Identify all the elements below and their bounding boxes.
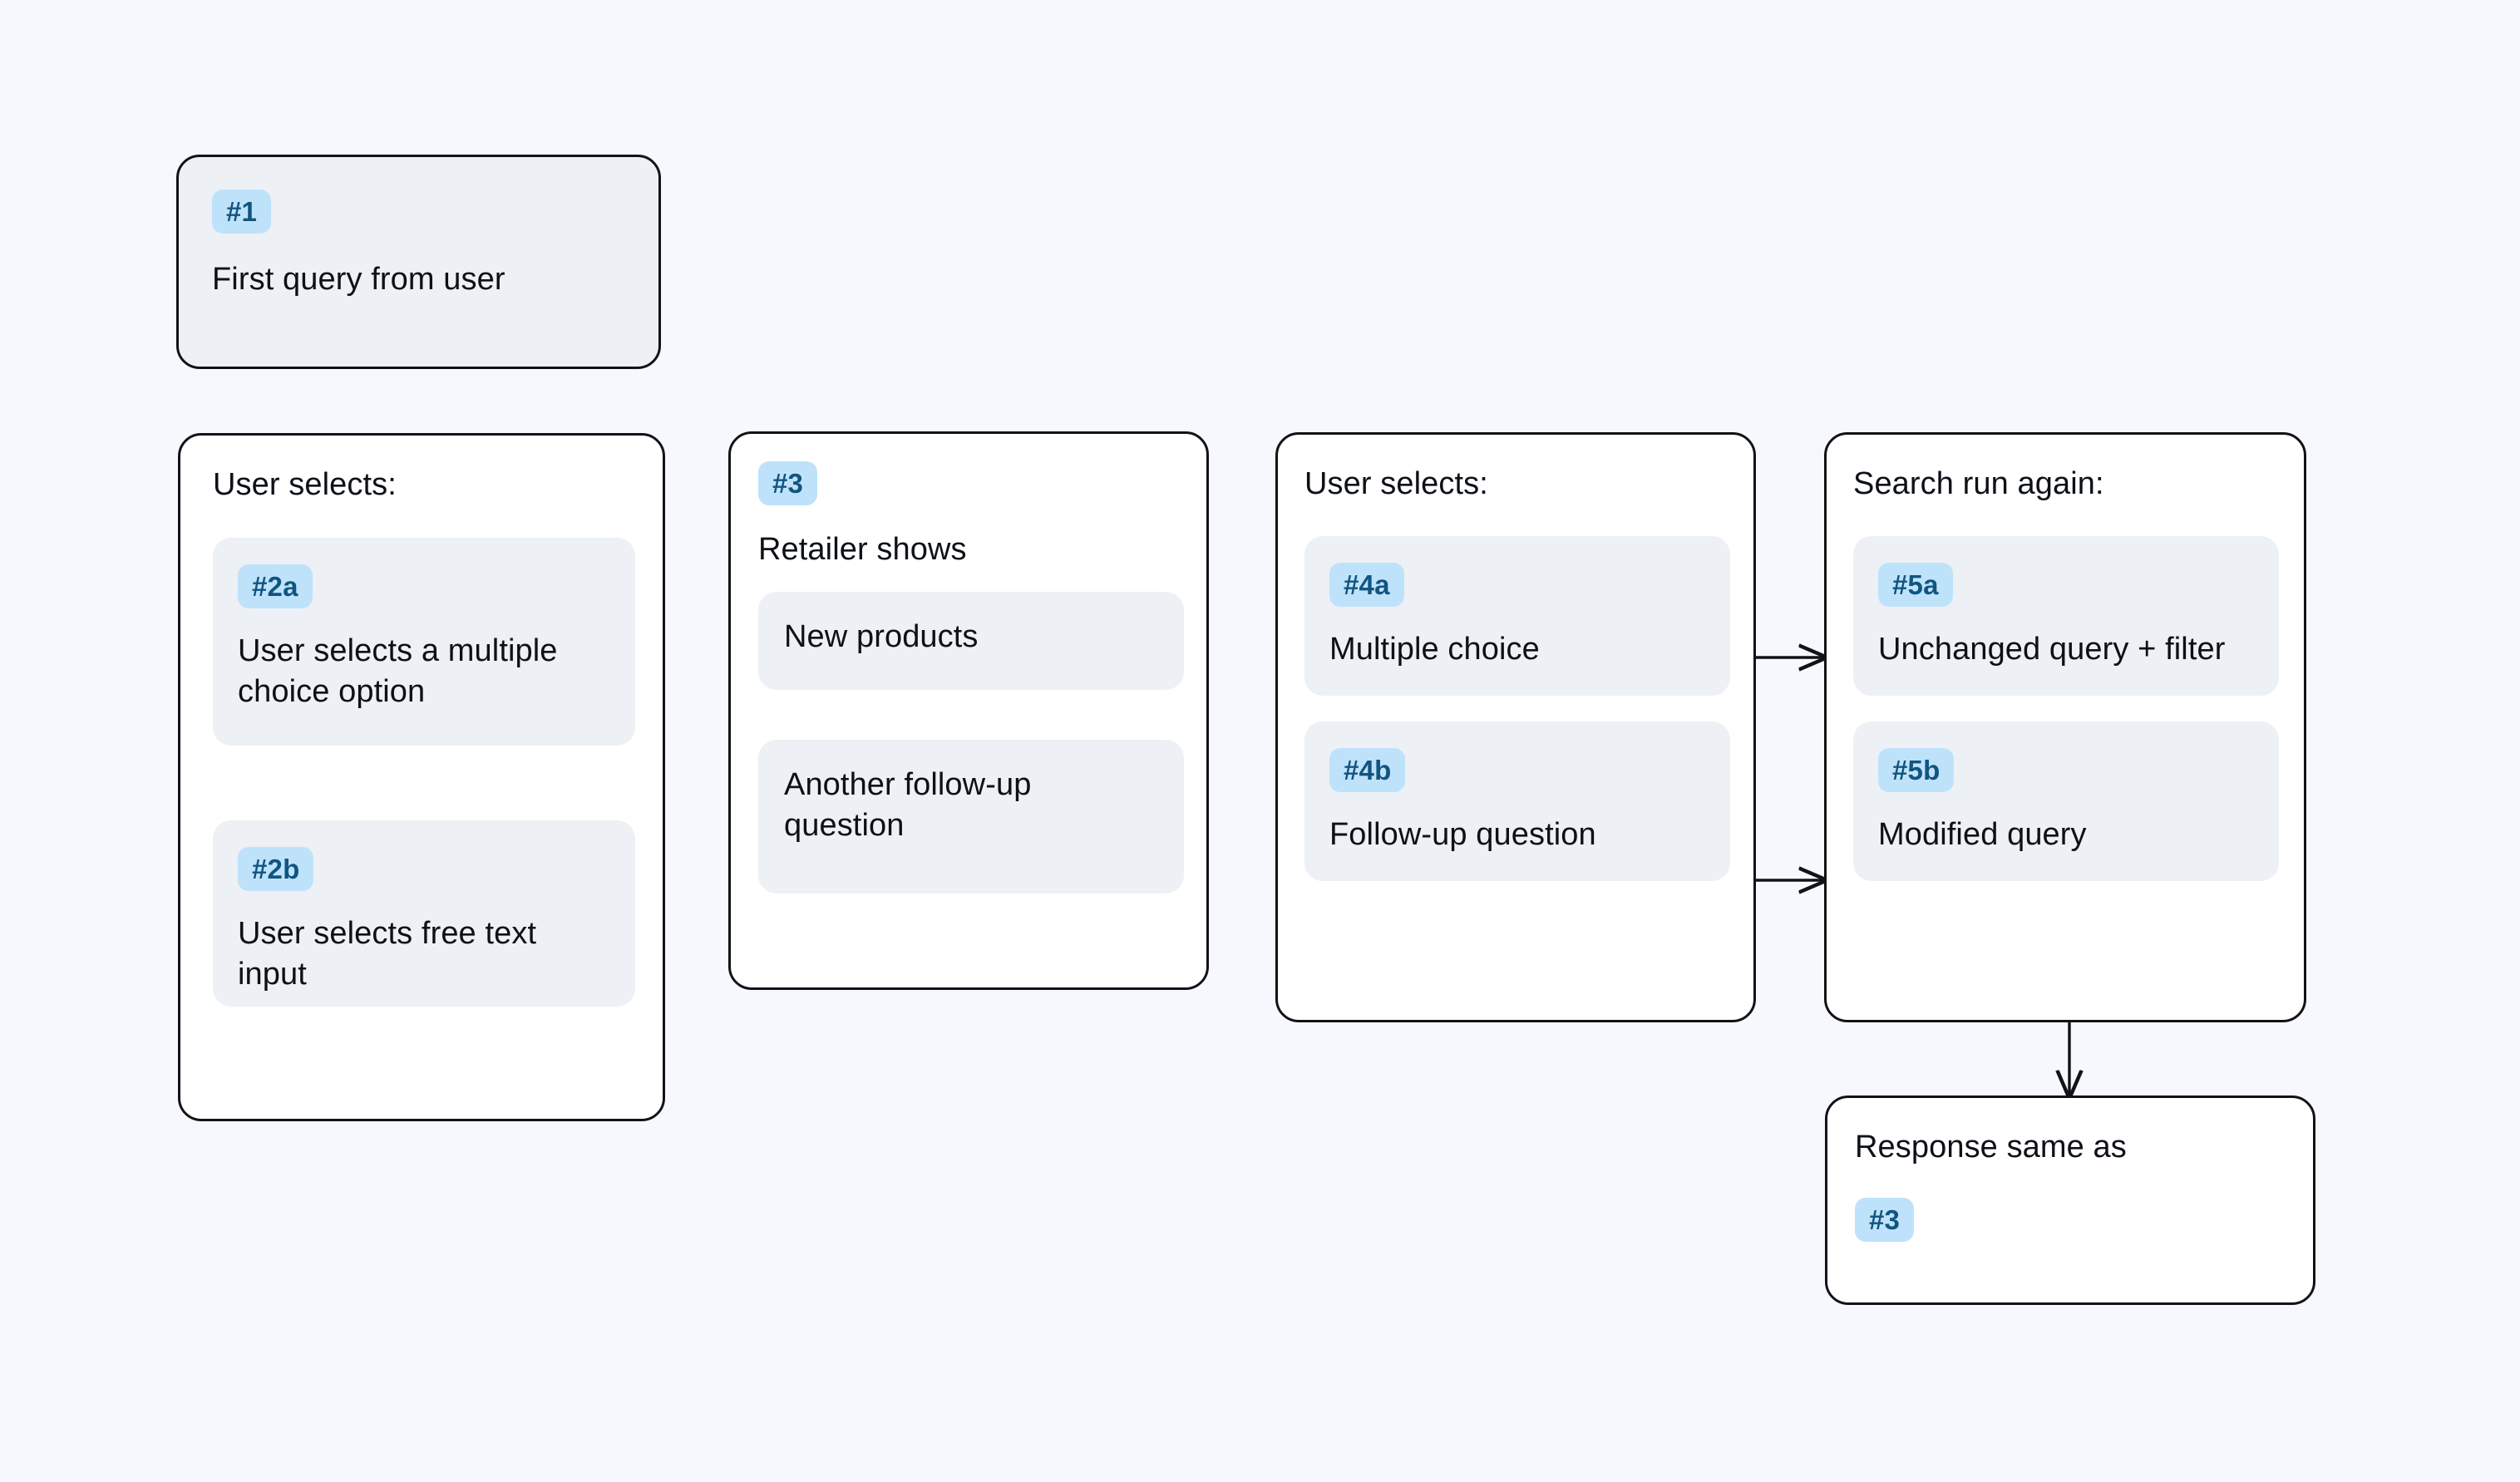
badge-2a: #2a [238,564,313,608]
card-6-response-same-as[interactable]: Response same as #3 [1825,1095,2315,1305]
card-4-user-selects[interactable]: User selects: #4a Multiple choice #4b Fo… [1275,432,1756,1022]
subcard-5b-text: Modified query [1878,815,2244,855]
subcard-4b-text: Follow-up question [1329,815,1695,855]
badge-4b: #4b [1329,748,1405,792]
card-5-search-run-again[interactable]: Search run again: #5a Unchanged query + … [1824,432,2306,1022]
card-4-title: User selects: [1304,465,1488,505]
card-2-user-selects[interactable]: User selects: #2a User selects a multipl… [178,433,665,1121]
card-1-label: First query from user [212,259,505,300]
card-5-title: Search run again: [1853,465,2104,505]
badge-3: #3 [758,461,817,505]
badge-1: #1 [212,190,271,234]
subcard-2b[interactable]: #2b User selects free text input [213,820,635,1007]
subcard-2a-text: User selects a multiple choice option [238,631,604,711]
card-6-title: Response same as [1855,1128,2127,1168]
badge-5a: #5a [1878,563,1953,607]
badge-5b: #5b [1878,748,1954,792]
card-1-first-query[interactable]: #1 First query from user [176,155,661,369]
subcard-5a-text: Unchanged query + filter [1878,629,2244,670]
subcard-another-followup[interactable]: Another follow-up question [758,740,1184,894]
subcard-2a[interactable]: #2a User selects a multiple choice optio… [213,538,635,746]
badge-2b: #2b [238,847,313,891]
diagram-canvas: #1 First query from user User selects: #… [0,0,2520,1482]
card-3-label: Retailer shows [758,529,967,570]
card-3-retailer-shows[interactable]: #3 Retailer shows New products Another f… [728,431,1209,990]
subcard-4a-text: Multiple choice [1329,629,1695,670]
subcard-new-products-text: New products [784,617,1158,657]
subcard-new-products[interactable]: New products [758,592,1184,690]
badge-6-reference-3: #3 [1855,1198,1914,1242]
subcard-5b[interactable]: #5b Modified query [1853,721,2279,881]
card-2-title: User selects: [213,465,397,505]
subcard-4b[interactable]: #4b Follow-up question [1304,721,1730,881]
subcard-2b-text: User selects free text input [238,913,604,994]
subcard-5a[interactable]: #5a Unchanged query + filter [1853,536,2279,696]
subcard-4a[interactable]: #4a Multiple choice [1304,536,1730,696]
badge-4a: #4a [1329,563,1404,607]
subcard-another-followup-text: Another follow-up question [784,765,1158,845]
